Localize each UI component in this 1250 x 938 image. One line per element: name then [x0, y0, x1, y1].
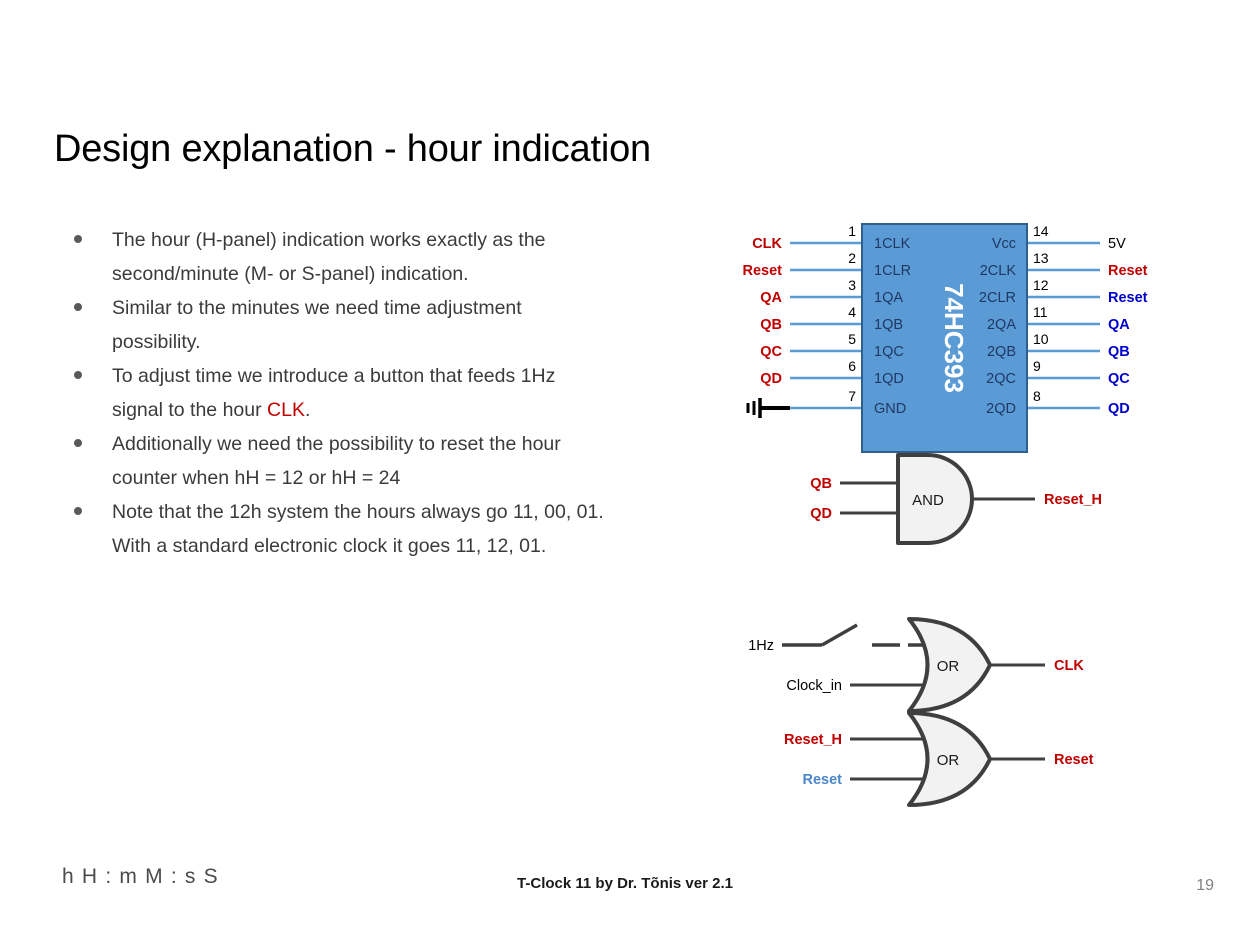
chip-pin-inner-label: 2QA — [987, 317, 1016, 333]
list-item-text: To adjust time we introduce a button tha… — [112, 365, 555, 421]
chip-pin-inner-label: 2CLR — [979, 290, 1016, 306]
list-item: The hour (H-panel) indication works exac… — [64, 223, 604, 291]
bullet-dot-icon — [74, 371, 82, 379]
list-item-text: The hour (H-panel) indication works exac… — [112, 229, 546, 285]
signal-label-reset: Reset — [743, 263, 783, 279]
schematic-diagram: 74HC393 1CLK 1CLR 1QA 1QB 1QC 1QD GND — [700, 195, 1230, 825]
ground-symbol — [748, 398, 790, 418]
chip-left-outer-labels: CLK Reset QA QB QC QD — [743, 236, 783, 387]
chip-pin-inner-label: 1QD — [874, 371, 904, 387]
switch-1hz[interactable] — [782, 625, 933, 645]
list-item: Additionally we need the possibility to … — [64, 427, 604, 495]
chip-pin-inner-label: 1CLK — [874, 236, 911, 252]
signal-label-qb-out: QB — [1108, 344, 1130, 360]
or-gate-clk-label: OR — [937, 658, 960, 675]
chip-pin-inner-label: 1QA — [874, 290, 903, 306]
chip-pin-number: 14 — [1033, 223, 1049, 239]
chip-pin-inner-label: GND — [874, 401, 906, 417]
bullet-list: The hour (H-panel) indication works exac… — [64, 223, 604, 563]
chip-name-label: 74HC393 — [939, 283, 969, 393]
page-number: 19 — [1196, 877, 1214, 895]
chip-pin-number: 12 — [1033, 277, 1049, 293]
or-clk-output-label: CLK — [1054, 658, 1084, 674]
list-item-text: Additionally we need the possibility to … — [112, 433, 561, 489]
chip-pin-inner-label: 2QD — [986, 401, 1016, 417]
ic-74hc393: 74HC393 1CLK 1CLR 1QA 1QB 1QC 1QD GND — [743, 223, 1148, 452]
signal-label-qd-out: QD — [1108, 401, 1130, 417]
and-output-label-reset-h: Reset_H — [1044, 492, 1102, 508]
chip-pin-number: 13 — [1033, 250, 1049, 266]
or-clk-input-label-1hz: 1Hz — [748, 638, 774, 654]
chip-pin-number: 11 — [1033, 304, 1048, 320]
and-input-label-qb: QB — [810, 476, 832, 492]
list-item-text: Similar to the minutes we need time adju… — [112, 297, 522, 353]
signal-label-qa-out: QA — [1108, 317, 1130, 333]
chip-right-outer-labels: 5V Reset Reset QA QB QC QD — [1108, 236, 1148, 417]
chip-pin-number: 10 — [1033, 331, 1049, 347]
or-clk-input-label-clock-in: Clock_in — [786, 678, 842, 694]
chip-pin-inner-label: 2QB — [987, 344, 1016, 360]
and-gate-label: AND — [912, 492, 944, 509]
bullet-dot-icon — [74, 303, 82, 311]
chip-pin-inner-label: 2QC — [986, 371, 1016, 387]
chip-pin-number: 3 — [848, 277, 856, 293]
or-gate-clk: OR 1Hz Clock_in CLK — [748, 619, 1084, 711]
chip-left-wires — [790, 243, 862, 408]
or-gate-reset-label: OR — [937, 752, 960, 769]
or-reset-input-label-reset-h: Reset_H — [784, 732, 842, 748]
signal-label-qa: QA — [760, 290, 782, 306]
or-reset-input-label-reset: Reset — [803, 772, 843, 788]
signal-label-qc-out: QC — [1108, 371, 1130, 387]
bullet-dot-icon — [74, 235, 82, 243]
or-reset-output-label: Reset — [1054, 752, 1094, 768]
list-item-text: Note that the 12h system the hours alway… — [112, 501, 604, 557]
signal-label-qd: QD — [760, 371, 782, 387]
signal-label-clk: CLK — [752, 236, 782, 252]
bullet-dot-icon — [74, 507, 82, 515]
chip-right-wires — [1027, 243, 1100, 408]
chip-pin-inner-label: 2CLK — [980, 263, 1017, 279]
chip-pin-number: 1 — [848, 223, 856, 239]
chip-pin-inner-label: 1QC — [874, 344, 904, 360]
list-item: Note that the 12h system the hours alway… — [64, 495, 604, 563]
chip-pin-number: 7 — [848, 388, 856, 404]
list-item: To adjust time we introduce a button tha… — [64, 359, 604, 427]
signal-label-reset-red: Reset — [1108, 263, 1148, 279]
chip-pin-number: 2 — [848, 250, 856, 266]
chip-pin-inner-label: 1CLR — [874, 263, 911, 279]
footer-credit: T-Clock 11 by Dr. Tõnis ver 2.1 — [0, 875, 1250, 892]
chip-pin-inner-label: Vcc — [992, 236, 1016, 252]
list-item: Similar to the minutes we need time adju… — [64, 291, 604, 359]
page-title: Design explanation - hour indication — [54, 123, 651, 175]
slide: Design explanation - hour indication The… — [0, 0, 1250, 938]
bullet-dot-icon — [74, 439, 82, 447]
chip-pin-number: 4 — [848, 304, 856, 320]
chip-pin-number: 9 — [1033, 358, 1041, 374]
and-input-label-qd: QD — [810, 506, 832, 522]
list-item-text-tail: . — [305, 399, 310, 421]
chip-pin-inner-label: 1QB — [874, 317, 903, 333]
chip-pin-number: 8 — [1033, 388, 1041, 404]
signal-label-5v: 5V — [1108, 236, 1126, 252]
signal-label-qc: QC — [760, 344, 782, 360]
signal-label-reset-blue: Reset — [1108, 290, 1148, 306]
list-item-highlight: CLK — [267, 399, 305, 421]
or-gate-reset: OR Reset_H Reset Reset — [784, 713, 1094, 805]
chip-pin-number: 5 — [848, 331, 856, 347]
chip-pin-number: 6 — [848, 358, 856, 374]
signal-label-qb: QB — [760, 317, 782, 333]
and-gate: AND QB QD Reset_H — [810, 455, 1102, 543]
